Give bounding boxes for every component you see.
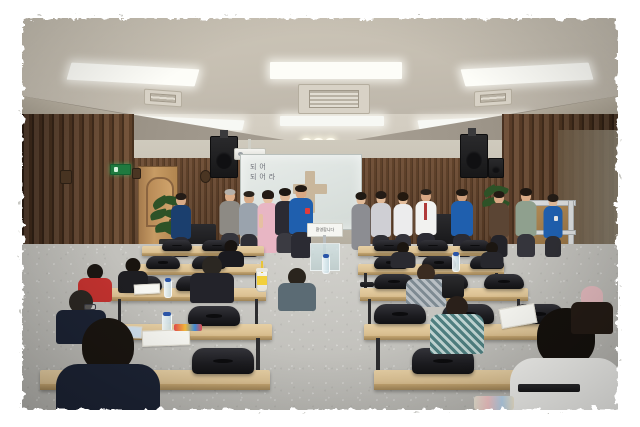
iced-drink-cup <box>256 270 268 292</box>
photo-frame: 되 어 되 어 라 <box>0 0 640 427</box>
ceiling-ac-vent <box>144 89 182 108</box>
photograph: 되 어 되 어 라 <box>22 18 618 410</box>
standing-person <box>514 190 537 256</box>
standing-person-blue-uniform <box>542 196 563 256</box>
chair <box>188 306 240 326</box>
mobile-phone <box>360 282 374 287</box>
speaker-bracket <box>220 130 228 138</box>
seated-person <box>278 268 316 308</box>
snack-package <box>174 324 202 331</box>
ceiling-light-panel <box>280 116 384 126</box>
speaker-bracket <box>468 128 476 136</box>
paper-handout <box>134 283 160 294</box>
eyeglasses <box>518 384 580 392</box>
wall-fixture-icon <box>132 168 141 179</box>
chair <box>192 348 254 374</box>
snack-package <box>474 396 514 410</box>
seated-person <box>480 242 504 268</box>
loudspeaker-small <box>488 158 504 178</box>
water-bottle <box>322 256 330 274</box>
chair <box>146 256 180 269</box>
loudspeaker-right <box>460 134 488 178</box>
water-bottle <box>452 254 460 272</box>
wall-fixture-icon <box>60 170 72 184</box>
seated-person-teal-sleeve <box>430 296 484 366</box>
foreground-person-navy <box>56 318 160 410</box>
chair <box>162 240 192 251</box>
seated-person-black-tshirt <box>190 256 234 300</box>
chair <box>418 240 448 251</box>
seated-person-pink-cap <box>570 286 614 332</box>
handbag <box>442 276 464 298</box>
ceiling-ac-vent <box>474 89 512 108</box>
chair <box>374 304 426 324</box>
water-bottle <box>164 280 172 298</box>
ceiling-ac-vent <box>298 84 370 114</box>
chair <box>484 274 524 289</box>
ceiling-light-panel <box>270 62 402 79</box>
exit-sign <box>110 164 131 175</box>
